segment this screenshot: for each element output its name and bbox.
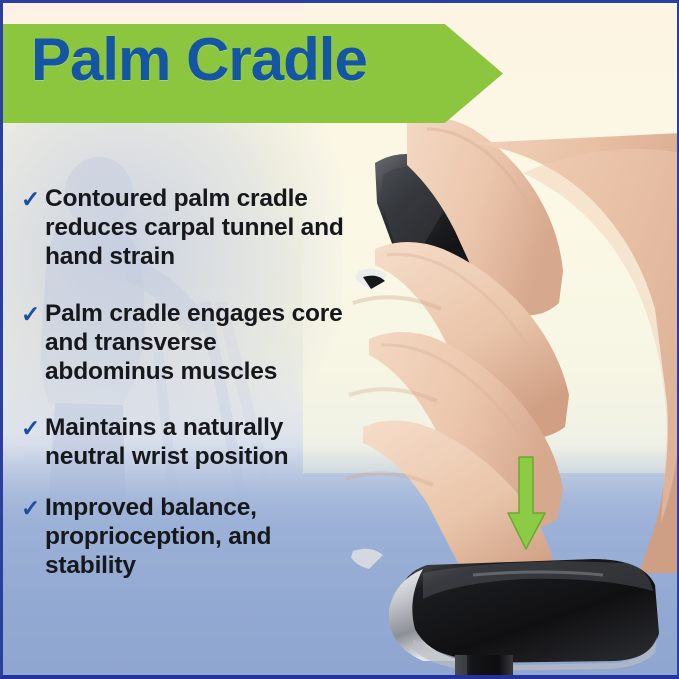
page-title: Palm Cradle xyxy=(31,30,367,90)
list-item: ✓ Contoured palm cradle reduces carpal t… xyxy=(21,185,351,272)
feature-list: ✓ Contoured palm cradle reduces carpal t… xyxy=(21,185,351,609)
list-item-label: Maintains a naturally neutral wrist posi… xyxy=(45,414,351,472)
check-icon: ✓ xyxy=(21,300,45,329)
list-item: ✓ Maintains a naturally neutral wrist po… xyxy=(21,414,351,472)
check-icon: ✓ xyxy=(21,185,45,214)
list-item: ✓ Palm cradle engages core and transvers… xyxy=(21,300,351,387)
product-feature-poster: Palm Cradle ✓ Contoured palm cradle redu… xyxy=(0,0,679,679)
check-icon: ✓ xyxy=(21,414,45,443)
check-icon: ✓ xyxy=(21,494,45,523)
list-item-label: Palm cradle engages core and transverse … xyxy=(45,300,351,387)
list-item: ✓ Improved balance, proprioception, and … xyxy=(21,494,351,581)
green-down-arrow-icon xyxy=(506,455,548,551)
list-item-label: Contoured palm cradle reduces carpal tun… xyxy=(45,185,351,272)
list-item-label: Improved balance, proprioception, and st… xyxy=(45,494,351,581)
